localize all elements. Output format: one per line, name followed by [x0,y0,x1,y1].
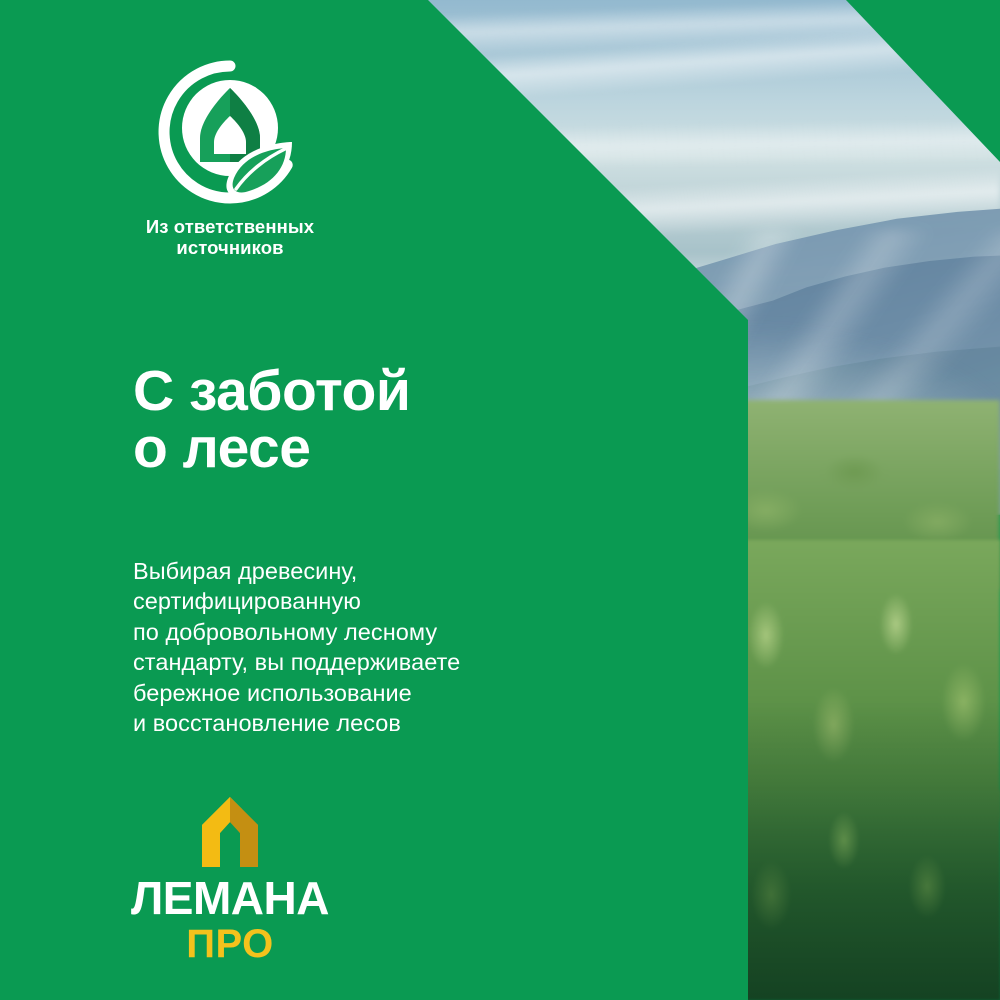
brand-sub: ПРО [130,923,330,965]
headline: С заботой о лесе [133,363,410,477]
brand-lockup: ЛЕМАНА ПРО [130,795,330,965]
certification-caption: Из ответственных источников [120,216,340,258]
promo-poster: Из ответственных источников С заботой о … [0,0,1000,1000]
certification-caption-line-1: Из ответственных [146,216,314,237]
certification-badge: Из ответственных источников [120,58,340,258]
brand-name: ЛЕМАНА [130,875,330,921]
lemana-house-icon [180,795,280,869]
responsible-sources-mark-icon [156,58,304,206]
body-copy: Выбирая древесину, сертифицированную по … [133,556,460,739]
certification-caption-line-2: источников [176,237,283,258]
poster-content: Из ответственных источников С заботой о … [0,0,1000,1000]
